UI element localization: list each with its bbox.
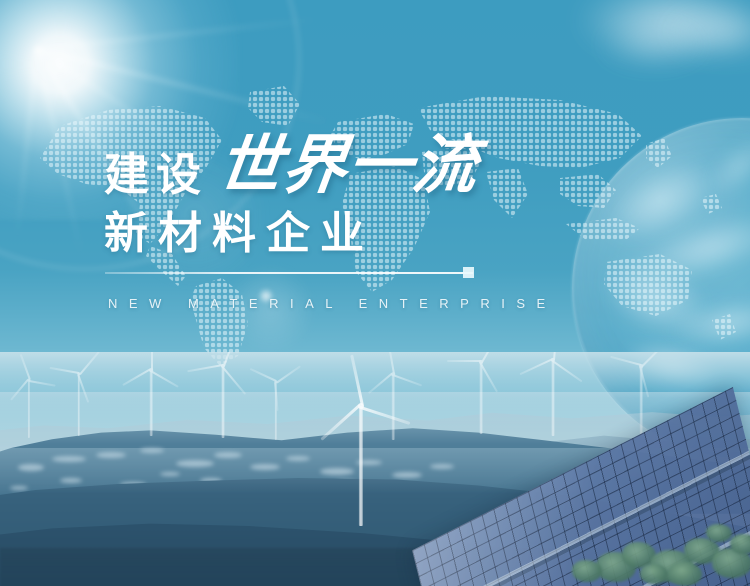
headline-divider-cap <box>463 267 474 278</box>
headline-prefix: 建设 <box>104 152 208 197</box>
headline-divider <box>105 272 473 274</box>
headline-secondary: 新材料企业 <box>104 209 374 258</box>
headline-emphasis: 世界一流 <box>214 133 482 197</box>
headline-subtitle: NEW MATERIAL ENTERPRISE <box>108 296 557 311</box>
headline-block: 建设 世界一流 新材料企业 NEW MATERIAL ENTERPRISE <box>0 0 750 586</box>
headline-line-1: 建设 世界一流 <box>104 133 478 197</box>
headline-line-2: 新材料企业 <box>104 212 374 256</box>
banner-hero: 建设 世界一流 新材料企业 NEW MATERIAL ENTERPRISE <box>0 0 750 586</box>
